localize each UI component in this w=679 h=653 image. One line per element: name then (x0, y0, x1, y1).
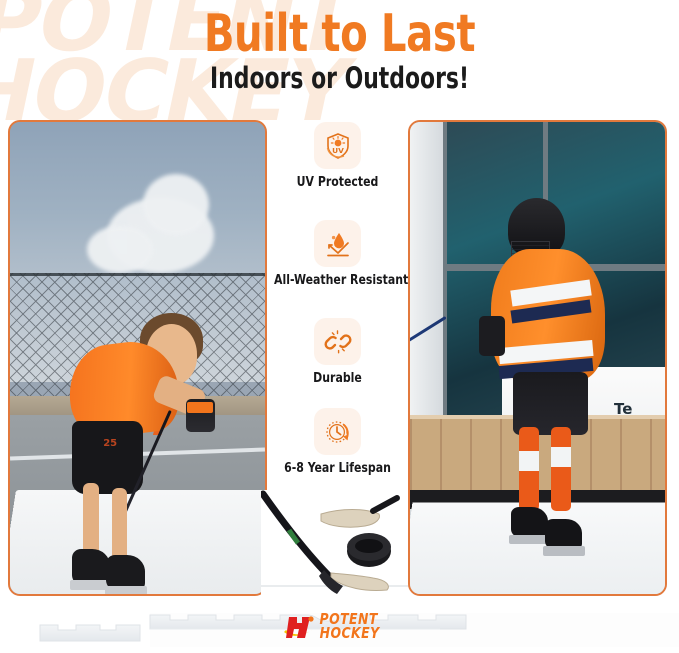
fence-top-bar (10, 273, 265, 276)
skate-blade (105, 586, 148, 596)
feature-uv-protected: UV UV Protected (267, 122, 408, 189)
feature-all-weather-resistant: All-Weather Resistant (267, 220, 408, 287)
white-pillar (410, 122, 443, 452)
sock-white-stripe (519, 451, 539, 471)
content-row: 25 (0, 120, 679, 602)
infographic-page: POTENT HOCKEY Built to Last Indoors or O… (0, 0, 679, 653)
header: POTENT HOCKEY Built to Last Indoors or O… (0, 0, 679, 120)
shorts-number: 25 (103, 438, 117, 449)
logo-word-hockey: HOCKEY (320, 626, 380, 640)
black-shorts (72, 421, 143, 493)
glove-cuff (187, 402, 213, 413)
feature-durable: Durable (267, 318, 408, 385)
outdoor-scene: 25 (10, 122, 265, 594)
chain-link-icon (314, 318, 361, 365)
orange-sock (551, 427, 571, 510)
hockey-pants (513, 372, 587, 435)
feature-label: UV Protected (274, 175, 401, 189)
cloud (143, 174, 209, 235)
footer: POTENT HOCKEY (0, 602, 679, 653)
player-figure (476, 198, 619, 594)
page-subtitle: Indoors or Outdoors! (54, 64, 624, 93)
svg-text:UV: UV (332, 146, 344, 155)
feature-list: UV UV Protected All-Weather Res (267, 120, 408, 596)
hockey-skate (511, 507, 548, 539)
cloud (87, 226, 153, 273)
player-figure: 25 (66, 316, 209, 594)
page-title: Built to Last (48, 0, 632, 60)
indoor-scene: Te (410, 122, 665, 594)
indoor-player-photo: Te (408, 120, 667, 596)
uv-shield-icon: UV (314, 122, 361, 169)
sock-white-stripe (551, 447, 571, 467)
skate-blade (543, 546, 584, 556)
feature-label: All-Weather Resistant (274, 273, 401, 287)
hockey-glove (479, 316, 505, 356)
stick-and-puck-illustration (261, 490, 411, 598)
feature-label: Durable (274, 371, 401, 385)
feature-label: 6-8 Year Lifespan (274, 461, 401, 475)
potent-hockey-logo: POTENT HOCKEY (283, 611, 405, 643)
feature-lifespan: 6-8 Year Lifespan (267, 408, 408, 475)
clock-timer-icon (314, 408, 361, 455)
water-droplet-repel-icon (314, 220, 361, 267)
outdoor-player-photo: 25 (8, 120, 267, 596)
